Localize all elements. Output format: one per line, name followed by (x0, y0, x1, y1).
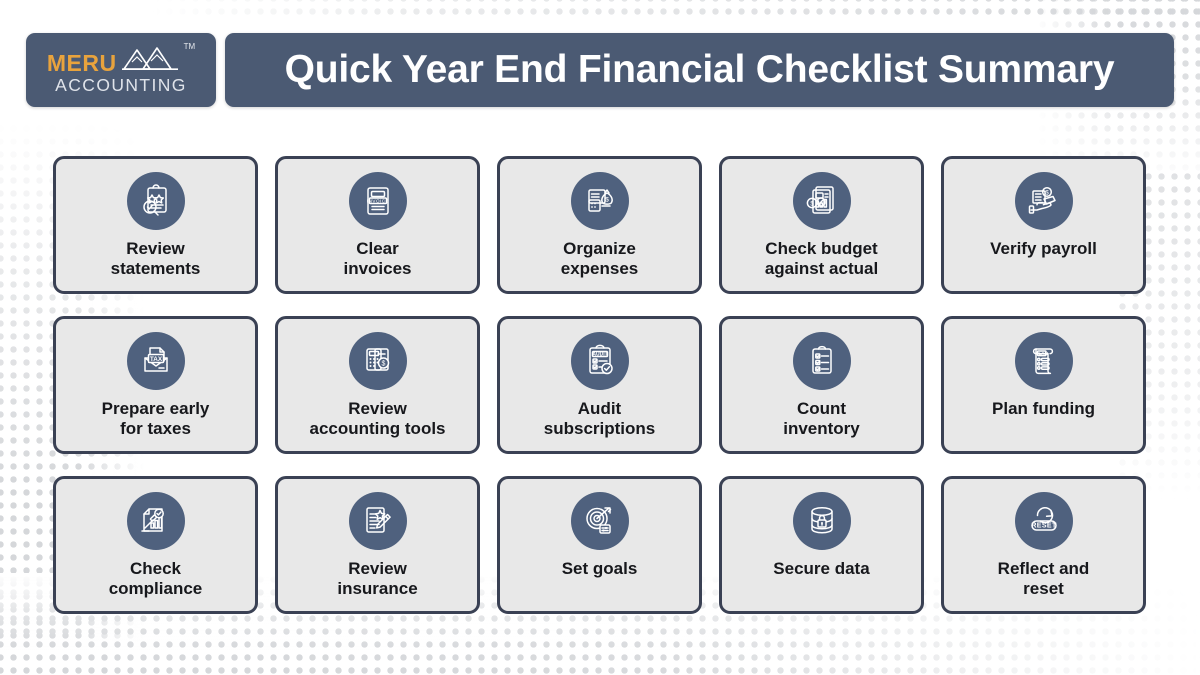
checklist-card[interactable]: $ Organize expenses (497, 156, 702, 294)
budget-report-coins-icon: $ (793, 172, 851, 230)
checklist-card-label: Review statements (105, 239, 207, 278)
brand-logo-top-row: MERU TM (47, 45, 195, 75)
invoice-icon: INVOICE (349, 172, 407, 230)
document-star-pencil-icon (349, 492, 407, 550)
calculator-dollar-icon: $ (349, 332, 407, 390)
checklist-card-label: Reflect and reset (992, 559, 1096, 598)
svg-text:INVOICE: INVOICE (366, 198, 388, 203)
checklist-card-label: Organize expenses (555, 239, 645, 278)
svg-text:AUDIT: AUDIT (592, 352, 607, 358)
brand-logo: MERU TM ACCOUNTING (26, 33, 216, 107)
clipboard-magnifier-icon (127, 172, 185, 230)
svg-text:TAX: TAX (149, 356, 162, 363)
database-lock-icon (793, 492, 851, 550)
checklist-card[interactable]: Review insurance (275, 476, 480, 614)
svg-text:$: $ (605, 197, 609, 204)
audit-clipboard-check-icon: AUDIT (571, 332, 629, 390)
hand-cash-dollar-icon: $ (1015, 172, 1073, 230)
calculator-money-bag-icon: $ (571, 172, 629, 230)
svg-text:RESET: RESET (1031, 523, 1057, 530)
checklist-card[interactable]: Check compliance (53, 476, 258, 614)
target-arrow-icon (571, 492, 629, 550)
checklist-card-label: Review insurance (331, 559, 423, 598)
inventory-clipboard-icon (793, 332, 851, 390)
checklist-card-label: Verify payroll (984, 239, 1103, 259)
page-title: Quick Year End Financial Checklist Summa… (285, 48, 1115, 92)
checklist-card[interactable]: Set goals (497, 476, 702, 614)
checklist-grid: Review statements INVOICE Clear invoices… (53, 156, 1147, 614)
checklist-card-label: Check compliance (103, 559, 209, 598)
checklist-card-label: Review accounting tools (304, 399, 452, 438)
header: MERU TM ACCOUNTING Quick Year End Financ… (26, 33, 1174, 107)
checklist-card-label: Set goals (556, 559, 644, 579)
checklist-card-label: Audit subscriptions (538, 399, 661, 438)
reset-refresh-icon: RESET (1015, 492, 1073, 550)
mountain-icon (121, 45, 179, 75)
svg-text:PLAN: PLAN (1035, 351, 1048, 356)
brand-name-primary: MERU (47, 52, 117, 75)
compliance-gavel-chart-icon (127, 492, 185, 550)
checklist-card[interactable]: $ Verify payroll (941, 156, 1146, 294)
checklist-card[interactable]: PLAN Plan funding (941, 316, 1146, 454)
checklist-card[interactable]: INVOICE Clear invoices (275, 156, 480, 294)
checklist-card-label: Plan funding (986, 399, 1101, 419)
checklist-card[interactable]: TAX Prepare early for taxes (53, 316, 258, 454)
tax-envelope-icon: TAX (127, 332, 185, 390)
title-banner: Quick Year End Financial Checklist Summa… (225, 33, 1174, 107)
checklist-card[interactable]: RESET Reflect and reset (941, 476, 1146, 614)
checklist-card-label: Secure data (767, 559, 875, 579)
trademark-mark: TM (184, 43, 196, 51)
brand-name-secondary: ACCOUNTING (55, 77, 187, 95)
checklist-card[interactable]: Count inventory (719, 316, 924, 454)
checklist-card[interactable]: AUDIT Audit subscriptions (497, 316, 702, 454)
plan-scroll-icon: PLAN (1015, 332, 1073, 390)
checklist-card[interactable]: Review statements (53, 156, 258, 294)
svg-text:$: $ (381, 361, 385, 368)
halftone-dots-top (150, 0, 1200, 18)
checklist-card[interactable]: $ Check budget against actual (719, 156, 924, 294)
checklist-card-label: Count inventory (777, 399, 866, 438)
checklist-card-label: Clear invoices (337, 239, 417, 278)
checklist-card[interactable]: Secure data (719, 476, 924, 614)
checklist-card-label: Prepare early for taxes (96, 399, 216, 438)
checklist-card-label: Check budget against actual (759, 239, 884, 278)
checklist-card[interactable]: $ Review accounting tools (275, 316, 480, 454)
